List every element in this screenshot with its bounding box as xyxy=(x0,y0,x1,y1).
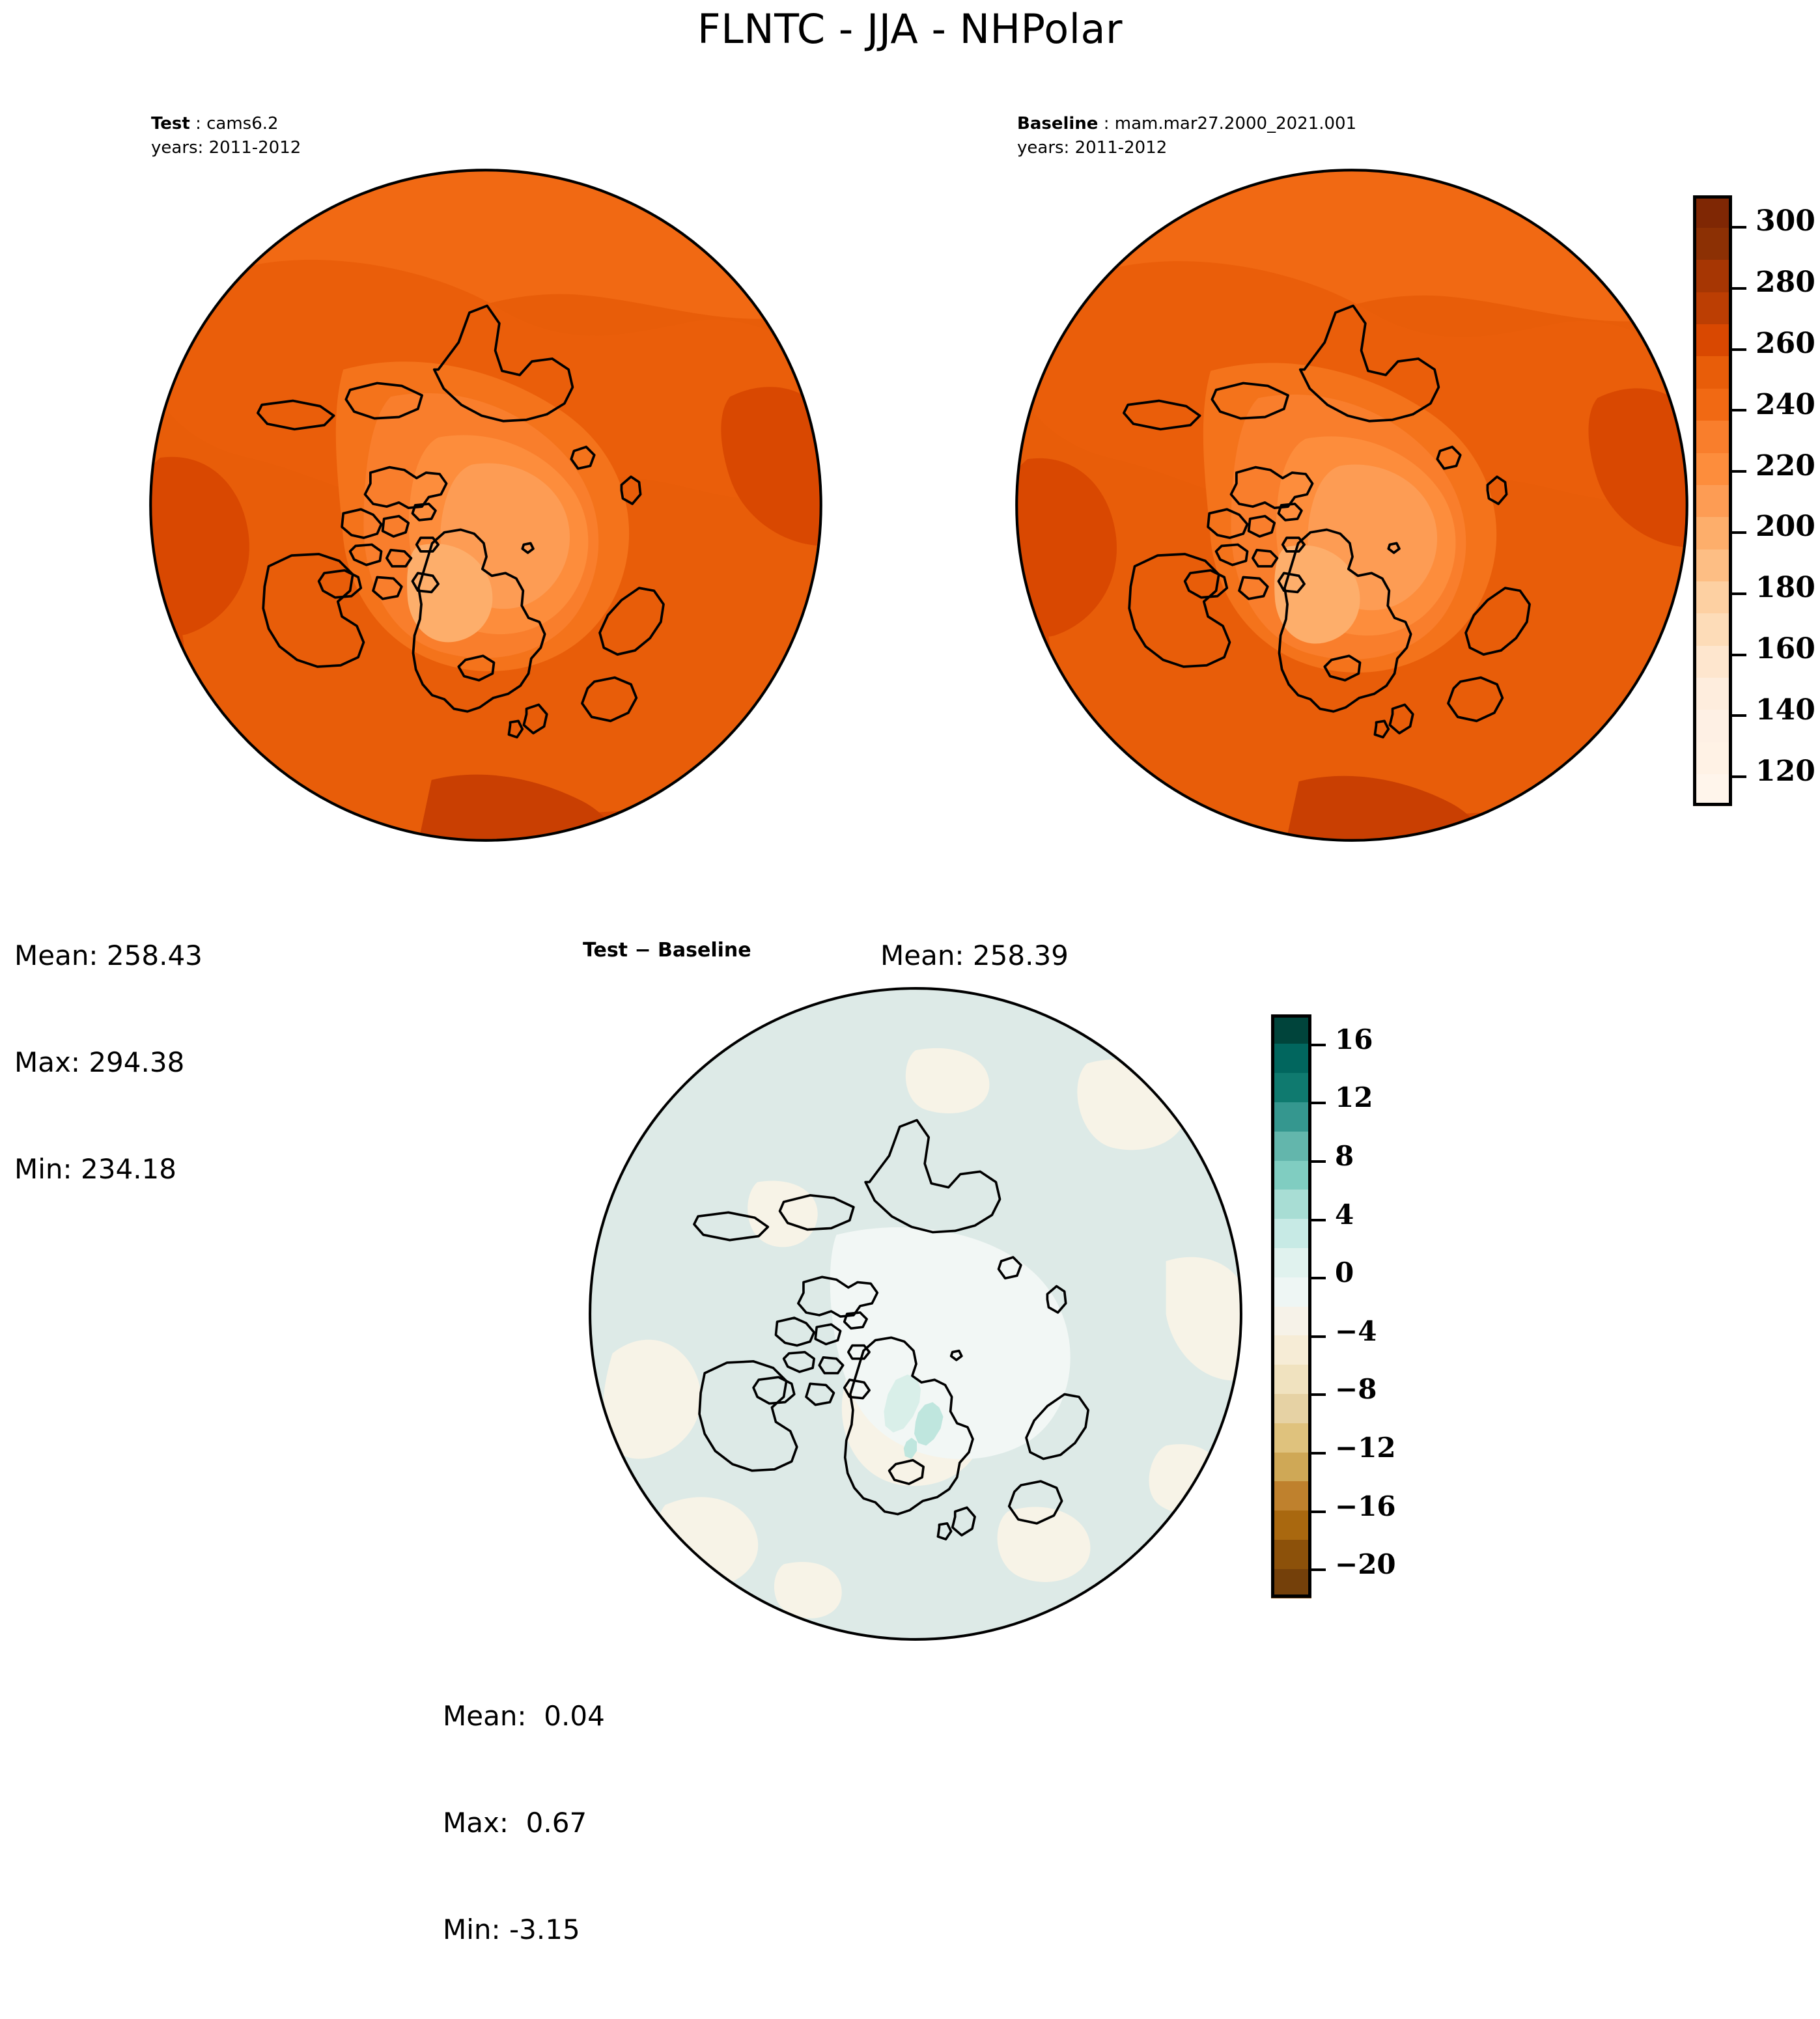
colorbar-band xyxy=(1271,1219,1311,1248)
colorbar-band xyxy=(1693,388,1732,421)
colorbar-band xyxy=(1693,645,1732,678)
colorbar-tick xyxy=(1311,1044,1326,1046)
main-colorbar[interactable] xyxy=(1693,195,1732,806)
difference-map xyxy=(586,984,1245,1643)
colorbar-tick xyxy=(1732,226,1746,229)
colorbar-band xyxy=(1271,1511,1311,1540)
colorbar-band xyxy=(1271,1393,1311,1423)
colorbar-tick xyxy=(1732,592,1746,595)
difference-panel-title: Test − Baseline xyxy=(583,939,751,962)
difference-map-svg xyxy=(586,984,1245,1643)
colorbar-tick xyxy=(1311,1568,1326,1571)
colorbar-band xyxy=(1271,1365,1311,1394)
colorbar-band xyxy=(1271,1131,1311,1160)
colorbar-band xyxy=(1693,613,1732,646)
colorbar-tick xyxy=(1311,1393,1326,1396)
baseline-panel-header: Baseline : mam.mar27.2000_2021.001 years… xyxy=(1017,112,1356,160)
colorbar-band xyxy=(1271,1247,1311,1277)
difference-stats: Mean: 0.04 Max: 0.67 Min: -3.15 xyxy=(443,1628,605,2019)
colorbar-tick-label: 12 xyxy=(1335,1081,1373,1113)
baseline-mean: Mean: 258.39 xyxy=(880,938,1069,974)
colorbar-tick-label: −12 xyxy=(1335,1432,1396,1464)
colorbar-tick xyxy=(1311,1452,1326,1455)
colorbar-band xyxy=(1693,292,1732,324)
page-title: FLNTC - JJA - NHPolar xyxy=(0,5,1820,53)
colorbar-tick-label: 220 xyxy=(1756,449,1815,482)
colorbar-tick-label: 0 xyxy=(1335,1257,1354,1288)
colorbar-band xyxy=(1271,1452,1311,1481)
baseline-map-svg xyxy=(1013,166,1691,844)
colorbar-tick xyxy=(1732,409,1746,411)
test-years: years: 2011-2012 xyxy=(151,136,301,160)
colorbar-band xyxy=(1693,324,1732,356)
difference-min: Min: -3.15 xyxy=(443,1912,605,1948)
baseline-years: years: 2011-2012 xyxy=(1017,136,1356,160)
difference-mean: Mean: 0.04 xyxy=(443,1699,605,1734)
test-panel-header: Test : cams6.2 years: 2011-2012 xyxy=(151,112,301,160)
colorbar-tick xyxy=(1311,1335,1326,1338)
colorbar-band xyxy=(1271,1073,1311,1102)
colorbar-tick xyxy=(1311,1511,1326,1513)
colorbar-tick xyxy=(1311,1102,1326,1104)
colorbar-tick-label: 260 xyxy=(1756,327,1815,360)
colorbar-tick-label: 180 xyxy=(1756,571,1815,604)
test-map-svg xyxy=(147,166,825,844)
colorbar-band xyxy=(1271,1568,1311,1598)
colorbar-tick-label: 140 xyxy=(1756,693,1815,727)
difference-max: Max: 0.67 xyxy=(443,1805,605,1841)
colorbar-tick xyxy=(1732,714,1746,717)
colorbar-tick-label: −4 xyxy=(1335,1315,1377,1347)
colorbar-band xyxy=(1693,421,1732,453)
colorbar-tick-label: 160 xyxy=(1756,632,1815,665)
colorbar-tick xyxy=(1311,1277,1326,1279)
colorbar-tick-label: 280 xyxy=(1756,266,1815,299)
baseline-map xyxy=(1013,166,1691,844)
colorbar-tick-label: 300 xyxy=(1756,204,1815,238)
test-stats: Mean: 258.43 Max: 294.38 Min: 234.18 xyxy=(14,867,203,1259)
test-min: Min: 234.18 xyxy=(14,1152,203,1188)
baseline-case-name: mam.mar27.2000_2021.001 xyxy=(1115,114,1356,133)
colorbar-band xyxy=(1693,581,1732,613)
colorbar-tick-label: −8 xyxy=(1335,1373,1377,1405)
colorbar-tick-label: 200 xyxy=(1756,510,1815,543)
colorbar-band xyxy=(1271,1160,1311,1190)
colorbar-band xyxy=(1271,1044,1311,1073)
colorbar-tick-label: 4 xyxy=(1335,1199,1354,1231)
colorbar-band xyxy=(1693,260,1732,292)
colorbar-band xyxy=(1693,453,1732,485)
colorbar-band xyxy=(1271,1335,1311,1365)
colorbar-band xyxy=(1271,1014,1311,1044)
colorbar-tick-label: 8 xyxy=(1335,1140,1354,1172)
colorbar-band xyxy=(1693,678,1732,710)
colorbar-band xyxy=(1693,484,1732,517)
colorbar-tick xyxy=(1732,348,1746,351)
colorbar-band xyxy=(1693,356,1732,389)
colorbar-band xyxy=(1271,1190,1311,1219)
colorbar-tick xyxy=(1732,654,1746,656)
test-map xyxy=(147,166,825,844)
figure-canvas: FLNTC - JJA - NHPolar Test : cams6.2 yea… xyxy=(0,0,1820,1736)
colorbar-band xyxy=(1693,774,1732,807)
colorbar-tick-label: 120 xyxy=(1756,755,1815,788)
colorbar-tick-label: 240 xyxy=(1756,388,1815,421)
colorbar-tick xyxy=(1732,470,1746,473)
colorbar-band xyxy=(1693,195,1732,228)
baseline-sep: : xyxy=(1098,114,1114,133)
colorbar-band xyxy=(1693,742,1732,774)
colorbar-band xyxy=(1271,1481,1311,1511)
test-label: Test xyxy=(151,114,190,133)
colorbar-band xyxy=(1271,1306,1311,1335)
colorbar-band xyxy=(1693,549,1732,581)
test-case-name: cams6.2 xyxy=(206,114,278,133)
test-max: Max: 294.38 xyxy=(14,1045,203,1081)
colorbar-band xyxy=(1693,517,1732,550)
colorbar-tick xyxy=(1311,1219,1326,1221)
colorbar-tick xyxy=(1732,287,1746,290)
colorbar-band xyxy=(1271,1539,1311,1568)
test-mean: Mean: 258.43 xyxy=(14,938,203,974)
colorbar-tick xyxy=(1311,1160,1326,1163)
test-sep: : xyxy=(190,114,206,133)
baseline-label: Baseline xyxy=(1017,114,1098,133)
colorbar-band xyxy=(1271,1423,1311,1452)
colorbar-tick xyxy=(1732,531,1746,534)
colorbar-band xyxy=(1271,1277,1311,1306)
colorbar-tick xyxy=(1732,775,1746,778)
colorbar-tick-label: 16 xyxy=(1335,1023,1373,1055)
colorbar-tick-label: −16 xyxy=(1335,1490,1396,1522)
colorbar-band xyxy=(1271,1102,1311,1131)
difference-colorbar[interactable] xyxy=(1271,1014,1311,1598)
colorbar-tick-label: −20 xyxy=(1335,1548,1396,1580)
colorbar-band xyxy=(1693,710,1732,742)
colorbar-band xyxy=(1693,227,1732,260)
